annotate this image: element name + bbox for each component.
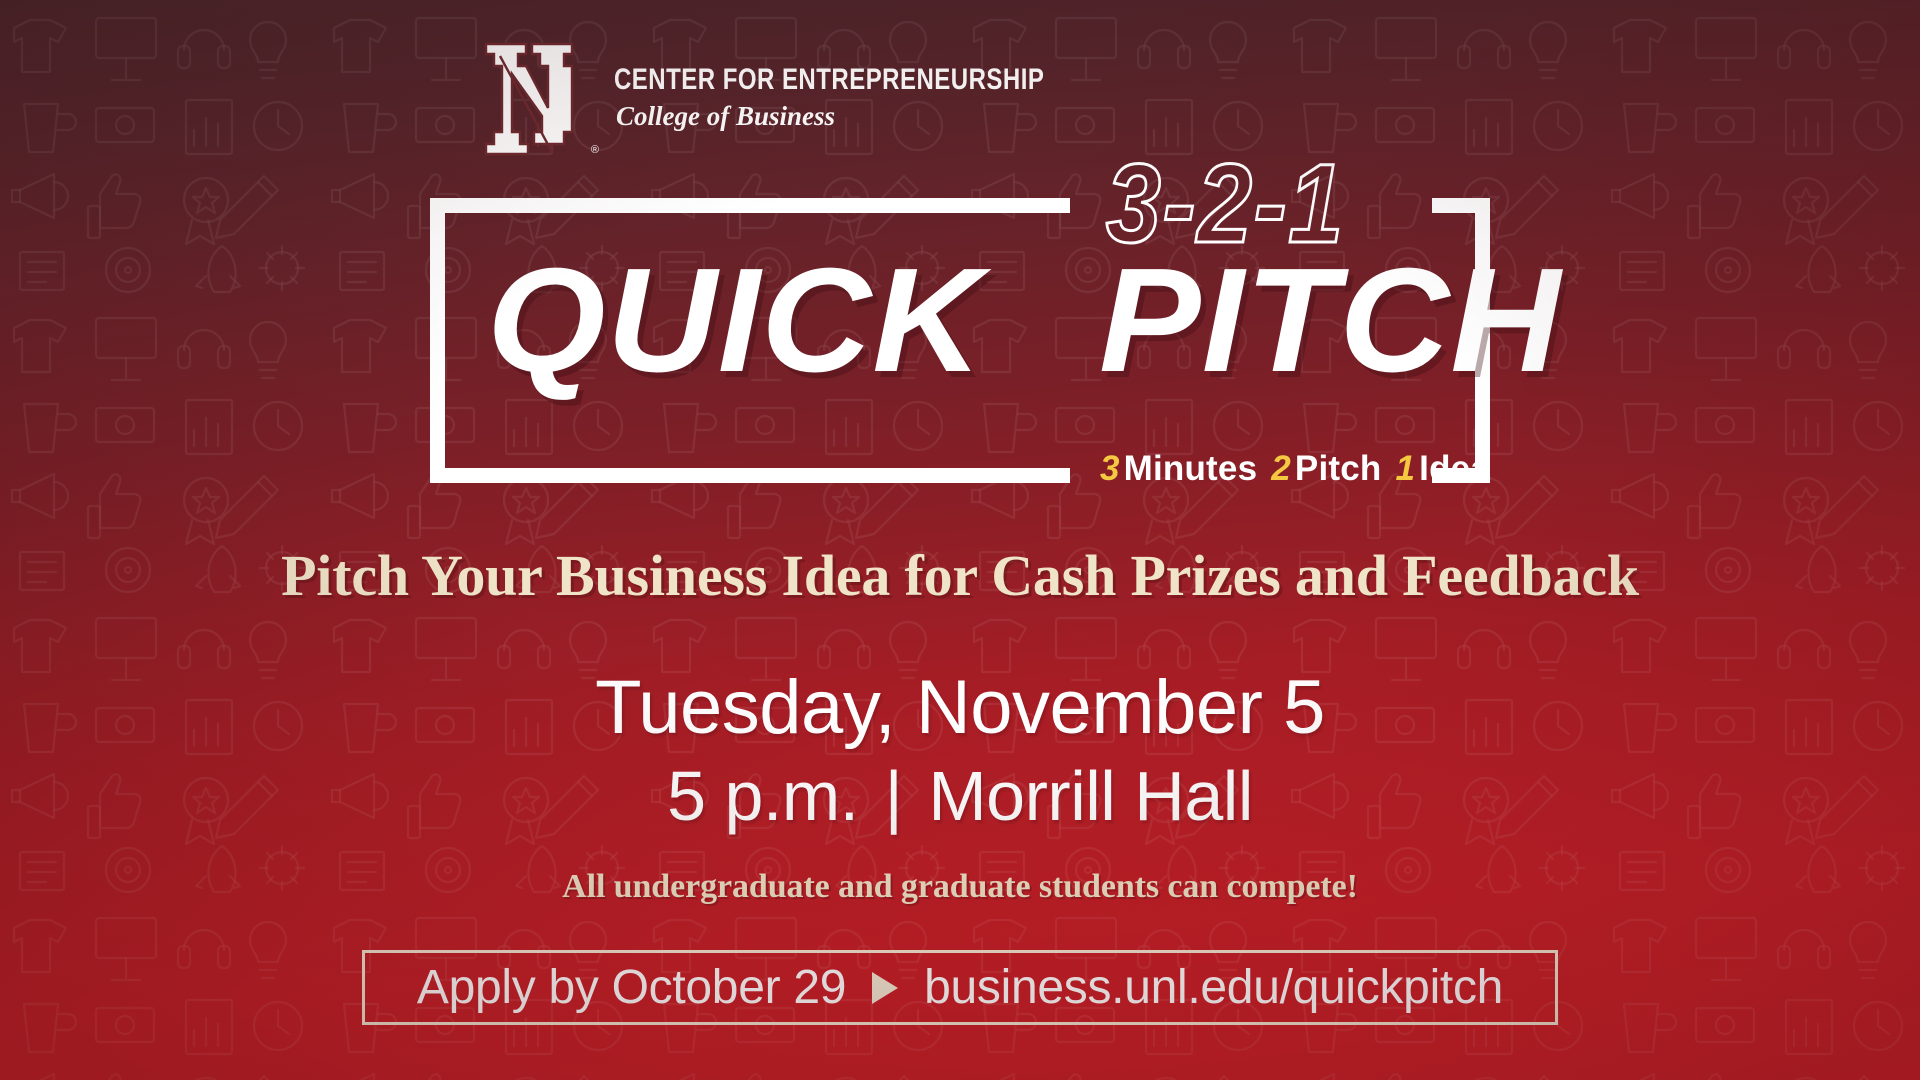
headline: Pitch Your Business Idea for Cash Prizes… [0,545,1920,608]
frame-bar-top [430,198,1070,213]
wordmark-pitch: PITCH [1099,238,1561,403]
apply-cta-box[interactable]: Apply by October 29 business.unl.edu/qui… [362,950,1558,1025]
event-date: Tuesday, November 5 [0,668,1920,748]
event-time: 5 p.m. [667,757,859,835]
logo-text-block: CENTER FOR ENTREPRENEURSHIP College of B… [614,40,1152,130]
cta-content: Apply by October 29 business.unl.edu/qui… [417,960,1503,1015]
event-format-tagline: 3Minutes2Pitch1Idea [0,449,1490,489]
apply-deadline-label: Apply by October 29 [417,960,846,1015]
wordmark-quick: QUICK [487,238,983,403]
registered-trademark-symbol: ® [591,145,599,156]
play-triangle-icon [872,972,898,1004]
tagline-label-minutes: Minutes [1124,449,1258,488]
event-time-location: 5 p.m.|Morrill Hall [0,760,1920,834]
time-location-separator: | [859,760,929,834]
tagline-label-pitch: Pitch [1295,449,1382,488]
apply-url-link[interactable]: business.unl.edu/quickpitch [924,960,1503,1015]
nebraska-n-icon: ® [478,40,596,158]
eligibility-note: All undergraduate and graduate students … [0,868,1920,906]
tagline-number-1: 1 [1395,449,1419,488]
event-location: Morrill Hall [928,757,1253,835]
vignette-overlay [0,0,1920,1080]
center-name-label: CENTER FOR ENTREPRENEURSHIP [614,64,1044,95]
university-logo-lockup: ® CENTER FOR ENTREPRENEURSHIP College of… [478,40,1152,158]
frame-bracket-top-right [1432,198,1490,213]
tagline-number-3: 3 [1100,449,1124,488]
tagline-label-idea: Idea [1419,449,1490,488]
college-name-label: College of Business [616,103,1152,130]
quick-pitch-wordmark: QUICK PITCH [487,247,1476,395]
poster-canvas: ® CENTER FOR ENTREPRENEURSHIP College of… [0,0,1920,1080]
frame-bar-left [430,198,445,483]
background-doodle-pattern [0,0,1920,1080]
tagline-number-2: 2 [1271,449,1295,488]
